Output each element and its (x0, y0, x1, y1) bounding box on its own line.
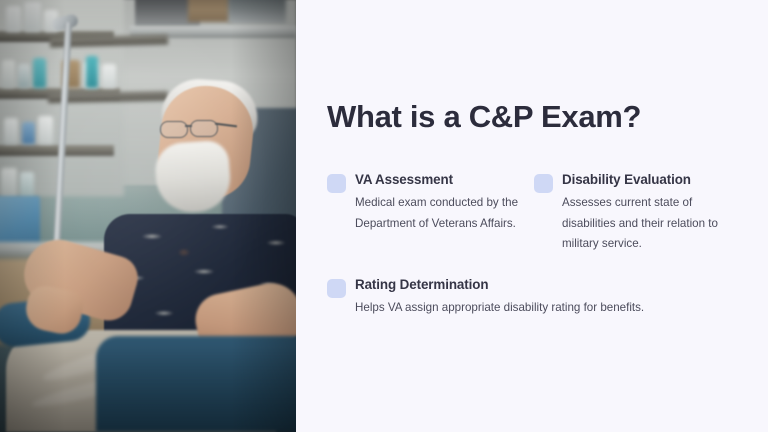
page-title: What is a C&P Exam? (327, 100, 641, 134)
feature-row-top: VA Assessment Medical exam conducted by … (327, 172, 731, 255)
feature-row-bottom: Rating Determination Helps VA assign app… (327, 255, 731, 319)
slide: What is a C&P Exam? VA Assessment Medica… (0, 0, 768, 432)
exam-chair-seat (96, 336, 296, 432)
eyeglass-lens-left (160, 121, 188, 138)
feature-list: VA Assessment Medical exam conducted by … (327, 172, 731, 319)
supply-bottle-blue (22, 122, 35, 144)
supply-bottle (6, 6, 21, 32)
list-item-text: VA Assessment Medical exam conducted by … (355, 172, 534, 234)
bullet-square-icon (534, 174, 553, 193)
supply-bottle (18, 64, 30, 88)
exam-room-photo (0, 0, 296, 432)
eyeglass-bridge (185, 125, 192, 127)
supply-bottle (102, 64, 116, 88)
list-item-heading: VA Assessment (355, 172, 534, 188)
supply-bottle (2, 60, 15, 88)
list-item-description: Assesses current state of disabilities a… (562, 193, 731, 255)
list-item: Disability Evaluation Assesses current s… (534, 172, 731, 255)
shelf-board-lower (0, 145, 114, 156)
supply-bottle (1, 168, 17, 198)
list-item-description: Helps VA assign appropriate disability r… (355, 298, 644, 319)
bullet-square-icon (327, 279, 346, 298)
supply-bottle (24, 2, 41, 32)
content-panel: What is a C&P Exam? VA Assessment Medica… (296, 0, 768, 432)
list-item-description: Medical exam conducted by the Department… (355, 193, 534, 234)
list-item-heading: Rating Determination (355, 277, 644, 293)
eyeglasses-icon (160, 120, 228, 136)
photo-panel (0, 0, 296, 432)
list-item: VA Assessment Medical exam conducted by … (327, 172, 534, 255)
eyeglass-lens-right (190, 120, 218, 137)
list-item-text: Disability Evaluation Assesses current s… (562, 172, 731, 255)
ceiling-cardboard-box (188, 0, 232, 22)
supply-bottle-teal (33, 58, 46, 88)
patient-beard (154, 140, 233, 215)
bullet-square-icon (327, 174, 346, 193)
supply-bottle-teal (86, 56, 98, 88)
list-item-heading: Disability Evaluation (562, 172, 731, 188)
list-item-text: Rating Determination Helps VA assign app… (355, 277, 644, 319)
list-item: Rating Determination Helps VA assign app… (327, 277, 731, 319)
supply-bottle (38, 116, 53, 144)
supply-bottle (20, 172, 34, 198)
supply-bottle (4, 118, 18, 144)
ceiling-monitor-box (228, 0, 286, 24)
